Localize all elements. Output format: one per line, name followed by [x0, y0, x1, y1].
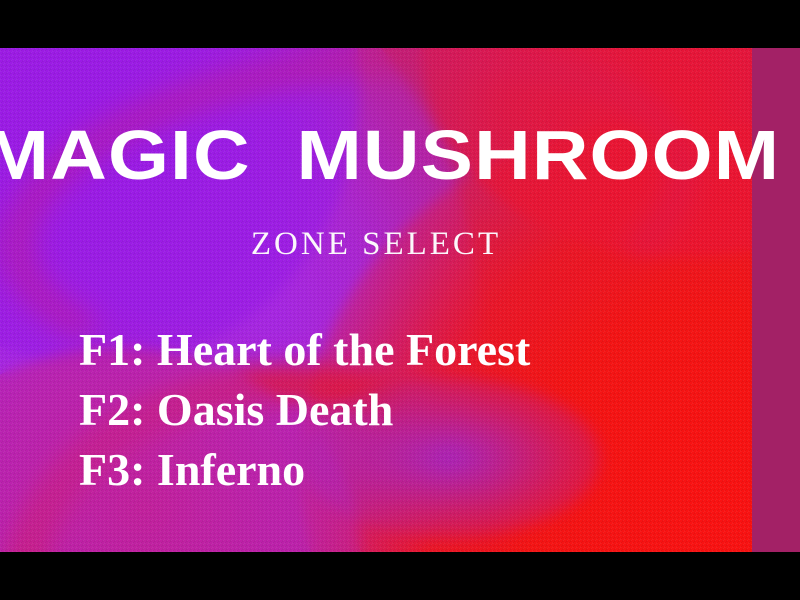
letterbox-bar-top: [0, 0, 800, 48]
game-title: MAGIC MUSHROOM: [0, 120, 800, 190]
zone-select-menu: F1: Heart of the Forest F2: Oasis Death …: [79, 320, 739, 500]
zone-menu-item-f1[interactable]: F1: Heart of the Forest: [79, 320, 739, 380]
zone-select-heading: ZONE SELECT: [0, 228, 752, 261]
game-screen: MAGIC MUSHROOM ZONE SELECT F1: Heart of …: [0, 0, 800, 600]
zone-menu-item-f3[interactable]: F3: Inferno: [79, 440, 739, 500]
zone-menu-item-f2[interactable]: F2: Oasis Death: [79, 380, 739, 440]
title-screen-content: MAGIC MUSHROOM ZONE SELECT F1: Heart of …: [0, 0, 800, 600]
letterbox-bar-bottom: [0, 552, 800, 600]
